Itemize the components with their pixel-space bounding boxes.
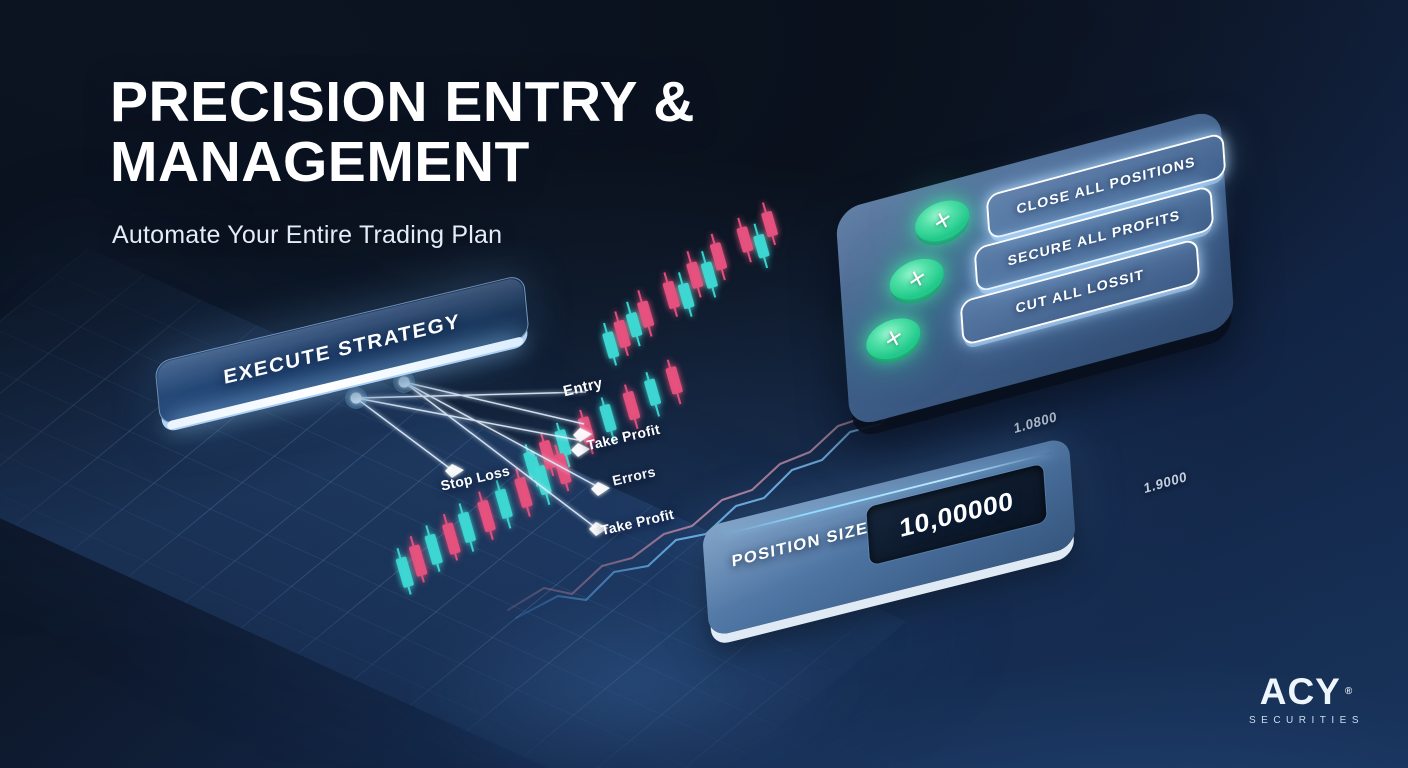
logo-mark: ACY® [1249, 673, 1364, 710]
hero-banner: 1.0000 1.9000 1.0800 1.9000 Entry Take P… [0, 0, 1408, 768]
headline-line-1: PRECISION ENTRY & [110, 70, 695, 134]
brand-logo: ACY® SECURITIES [1249, 673, 1364, 726]
subtitle: Automate Your Entire Trading Plan [112, 221, 810, 250]
add-button-3[interactable]: ✕ [865, 312, 922, 365]
headline-line-2: MANAGEMENT [110, 132, 810, 192]
page-title: PRECISION ENTRY & MANAGEMENT [110, 72, 810, 193]
registered-trademark-icon: ® [1345, 687, 1353, 697]
logo-tagline: SECURITIES [1249, 715, 1364, 726]
plus-icon: ✕ [882, 326, 904, 351]
hero-copy: PRECISION ENTRY & MANAGEMENT Automate Yo… [110, 72, 810, 250]
plus-icon: ✕ [931, 208, 953, 233]
logo-wordmark: ACY [1260, 673, 1341, 710]
plus-icon: ✕ [906, 267, 928, 292]
add-button-2[interactable]: ✕ [888, 253, 945, 306]
